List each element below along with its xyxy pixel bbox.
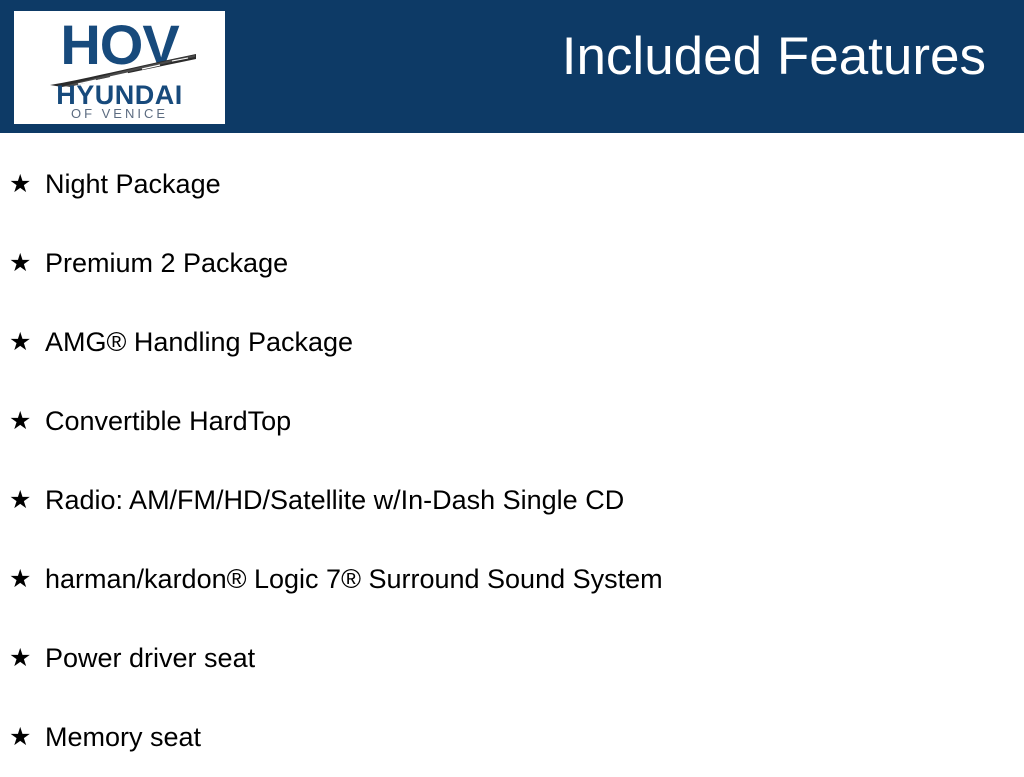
slide-header-band: HOV HYUNDAI OF VENICE Included Features xyxy=(0,0,1024,133)
feature-label: Night Package xyxy=(45,169,221,199)
feature-label: harman/kardon® Logic 7® Surround Sound S… xyxy=(45,564,663,594)
list-item: ★ harman/kardon® Logic 7® Surround Sound… xyxy=(0,540,1024,619)
list-item: ★ Memory seat xyxy=(0,698,1024,777)
feature-label: AMG® Handling Package xyxy=(45,327,353,357)
dealer-logo: HOV HYUNDAI OF VENICE xyxy=(14,11,225,124)
feature-label: Convertible HardTop xyxy=(45,406,291,436)
star-bullet-icon: ★ xyxy=(9,461,35,540)
list-item: ★ Convertible HardTop xyxy=(0,382,1024,461)
logo-location-of-venice: OF VENICE xyxy=(14,107,225,121)
star-bullet-icon: ★ xyxy=(9,619,35,698)
star-bullet-icon: ★ xyxy=(9,698,35,777)
star-bullet-icon: ★ xyxy=(9,382,35,461)
feature-label: Memory seat xyxy=(45,722,201,752)
star-bullet-icon: ★ xyxy=(9,224,35,303)
feature-label: Premium 2 Package xyxy=(45,248,288,278)
list-item: ★ Power driver seat xyxy=(0,619,1024,698)
star-bullet-icon: ★ xyxy=(9,145,35,224)
star-bullet-icon: ★ xyxy=(9,303,35,382)
feature-label: Power driver seat xyxy=(45,643,255,673)
page-title: Included Features xyxy=(562,28,986,86)
slide-root: HOV HYUNDAI OF VENICE Included Features … xyxy=(0,0,1024,768)
star-bullet-icon: ★ xyxy=(9,540,35,619)
included-features-list: ★ Night Package ★ Premium 2 Package ★ AM… xyxy=(0,145,1024,777)
list-item: ★ Premium 2 Package xyxy=(0,224,1024,303)
list-item: ★ Night Package xyxy=(0,145,1024,224)
feature-label: Radio: AM/FM/HD/Satellite w/In-Dash Sing… xyxy=(45,485,624,515)
dealer-logo-inner: HOV HYUNDAI OF VENICE xyxy=(14,11,225,124)
list-item: ★ AMG® Handling Package xyxy=(0,303,1024,382)
list-item: ★ Radio: AM/FM/HD/Satellite w/In-Dash Si… xyxy=(0,461,1024,540)
logo-brand-hyundai: HYUNDAI xyxy=(14,81,225,109)
